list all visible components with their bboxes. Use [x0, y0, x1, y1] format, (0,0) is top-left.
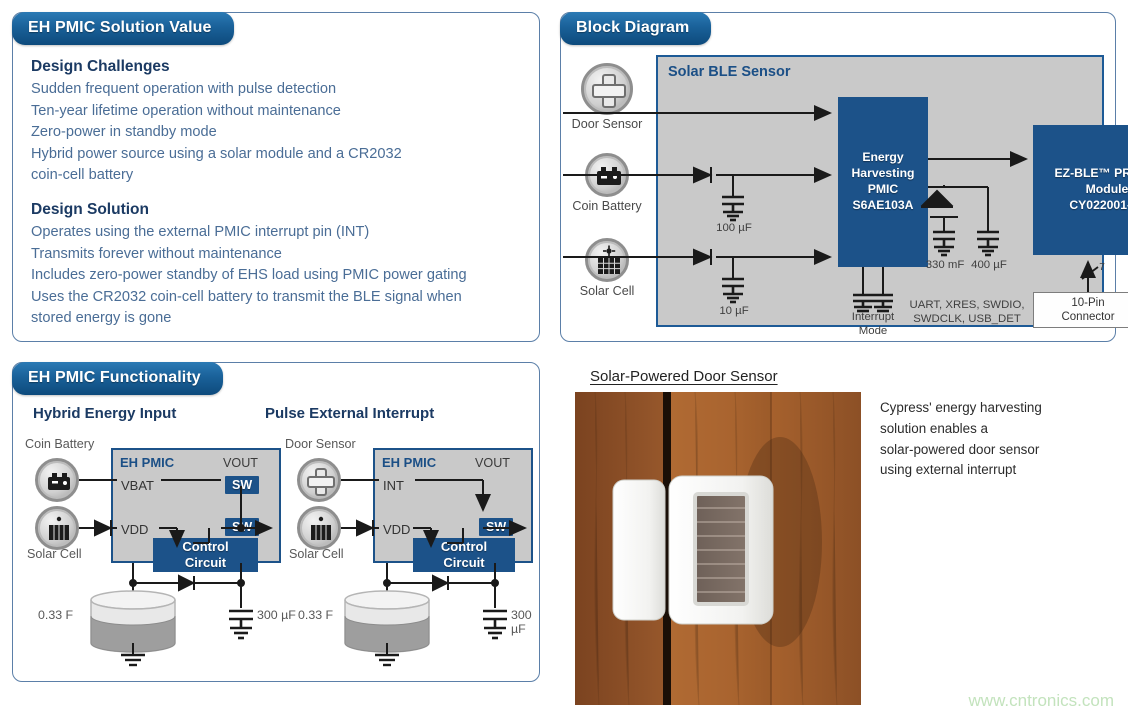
design-solution-list: Operates using the external PMIC interru…	[31, 222, 539, 330]
pulse-external-interrupt-title: Pulse External Interrupt	[265, 405, 434, 422]
cap-400uf-label: 400 µF	[960, 259, 1018, 273]
cap-300uf-label-right: 300 µF	[511, 608, 539, 636]
photo-section-title: Solar-Powered Door Sensor	[590, 368, 778, 385]
panel-block-diagram: Block Diagram Door Sensor Coin Battery	[560, 12, 1116, 342]
cap-100uf-label: 100 µF	[704, 222, 764, 236]
section-gap	[31, 187, 539, 201]
supercap-label-left: 0.33 F	[38, 608, 73, 622]
solar-ble-sensor-region: Solar BLE Sensor Energy Harvesting PMIC …	[656, 55, 1104, 327]
design-solution-title: Design Solution	[31, 201, 539, 219]
hybrid-energy-input-title: Hybrid Energy Input	[33, 405, 176, 422]
sensor-door-label: Door Sensor	[567, 117, 647, 131]
right-circuit-wiring	[275, 448, 575, 698]
solution-value-body: Design Challenges Sudden frequent operat…	[13, 13, 539, 330]
sensor-coin-battery-label: Coin Battery	[567, 199, 647, 213]
door-sensor-icon	[581, 63, 633, 115]
photo-caption: Cypress' energy harvesting solution enab…	[880, 398, 1095, 481]
supercapacitor-left	[91, 591, 175, 665]
supercapacitor-right	[345, 591, 429, 665]
design-challenges-title: Design Challenges	[31, 58, 539, 76]
panel-header-block-diagram: Block Diagram	[560, 12, 711, 45]
bus-signals-label: UART, XRES, SWDIO, SWDCLK, USB_DET	[903, 299, 1031, 326]
sensor-solar-cell: Solar Cell	[567, 238, 647, 298]
bus-width-label: 7	[1095, 262, 1109, 274]
interrupt-mode-label: Interrupt Mode	[843, 311, 903, 338]
solar-cell-icon	[585, 238, 629, 282]
door-sensor-photo	[575, 392, 861, 705]
panel-header-solution-value: EH PMIC Solution Value	[12, 12, 234, 45]
watermark: www.cntronics.com	[969, 691, 1114, 711]
ten-pin-connector-block: 10-Pin Connector	[1033, 292, 1128, 328]
panel-solution-value: EH PMIC Solution Value Design Challenges…	[12, 12, 540, 342]
supercap-label-right: 0.33 F	[298, 608, 333, 622]
left-circuit-wiring	[13, 448, 313, 698]
sensor-door: Door Sensor	[567, 63, 647, 131]
panel-eh-pmic-functionality: EH PMIC Functionality Hybrid Energy Inpu…	[12, 362, 540, 682]
sensor-solar-cell-label: Solar Cell	[567, 284, 647, 298]
block-diagram-wiring	[658, 57, 1106, 329]
cap-10uf-label: 10 µF	[704, 305, 764, 319]
design-challenges-list: Sudden frequent operation with pulse det…	[31, 79, 539, 187]
sensor-coin-battery: Coin Battery	[567, 153, 647, 213]
panel-header-functionality: EH PMIC Functionality	[12, 362, 223, 395]
